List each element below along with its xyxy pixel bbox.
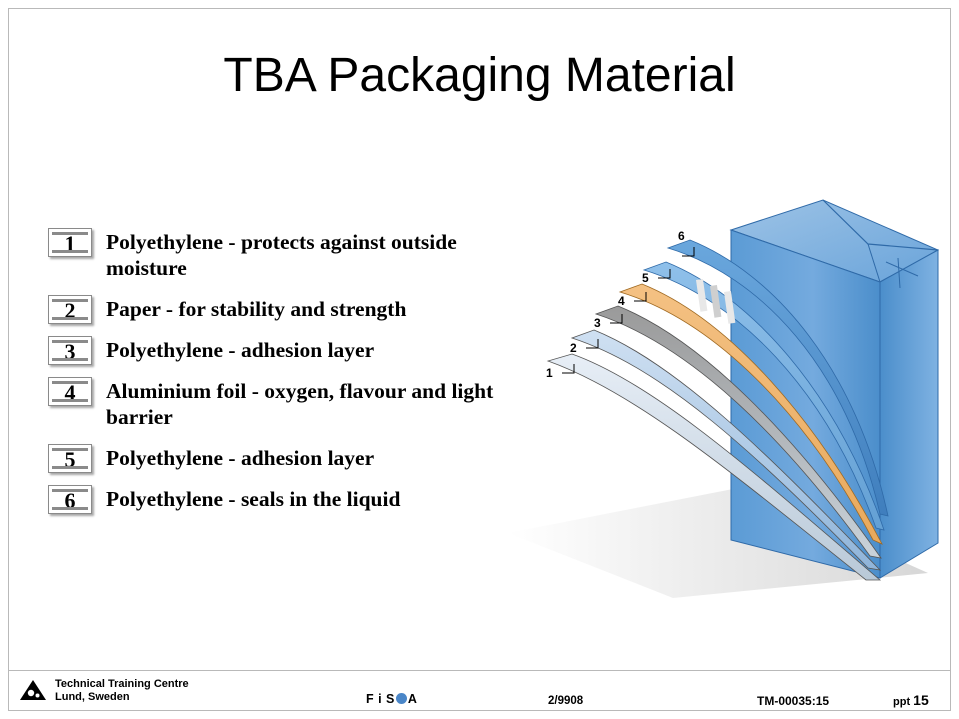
page-title: TBA Packaging Material (0, 48, 959, 103)
footer-page: ppt 15 (893, 692, 929, 708)
company-logo-icon (18, 678, 48, 704)
callout-label-1: 1 (546, 366, 553, 380)
footer-page-number: 15 (913, 692, 929, 708)
layer-description-5: Polyethylene - adhesion layer (106, 444, 374, 471)
layer-number-badge-1: 1 (48, 228, 92, 257)
list-item: 2 Paper - for stability and strength (48, 295, 518, 324)
badge-top-bar (52, 448, 88, 451)
layer-number-badge-6: 6 (48, 485, 92, 514)
badge-bottom-bar (52, 358, 88, 361)
list-item: 5 Polyethylene - adhesion layer (48, 444, 518, 473)
carton-layers-diagram: 1 2 3 4 5 6 (488, 188, 948, 618)
badge-top-bar (52, 232, 88, 235)
footer-document-id: TM-00035:15 (757, 694, 829, 708)
brand-dot-icon (396, 693, 407, 704)
layer-description-2: Paper - for stability and strength (106, 295, 406, 322)
layer-number-badge-3: 3 (48, 336, 92, 365)
badge-bottom-bar (52, 507, 88, 510)
list-item: 4 Aluminium foil - oxygen, flavour and l… (48, 377, 518, 430)
badge-bottom-bar (52, 466, 88, 469)
callout-label-2: 2 (570, 341, 577, 355)
badge-top-bar (52, 299, 88, 302)
slide: TBA Packaging Material 1 Polyethylene - … (0, 0, 959, 719)
layer-legend-list: 1 Polyethylene - protects against outsid… (48, 228, 518, 524)
list-item: 6 Polyethylene - seals in the liquid (48, 485, 518, 514)
layer-description-6: Polyethylene - seals in the liquid (106, 485, 400, 512)
footer-brand-suffix: A (408, 692, 418, 706)
footer-date: 2/9908 (548, 695, 583, 707)
badge-bottom-bar (52, 317, 88, 320)
callout-label-4: 4 (618, 294, 625, 308)
badge-top-bar (52, 340, 88, 343)
callout-label-3: 3 (594, 316, 601, 330)
badge-top-bar (52, 381, 88, 384)
footer-ppt-label: ppt (893, 696, 910, 708)
slide-footer: Technical Training Centre Lund, Sweden F… (0, 668, 959, 718)
footer-org-line2: Lund, Sweden (55, 691, 189, 704)
footer-org-line1: Technical Training Centre (55, 678, 189, 691)
layer-description-3: Polyethylene - adhesion layer (106, 336, 374, 363)
footer-organisation: Technical Training Centre Lund, Sweden (55, 678, 189, 704)
layer-number-badge-5: 5 (48, 444, 92, 473)
badge-bottom-bar (52, 399, 88, 402)
footer-divider (9, 670, 950, 671)
layer-description-1: Polyethylene - protects against outside … (106, 228, 506, 281)
layer-description-4: Aluminium foil - oxygen, flavour and lig… (106, 377, 506, 430)
list-item: 3 Polyethylene - adhesion layer (48, 336, 518, 365)
callout-label-5: 5 (642, 271, 649, 285)
badge-bottom-bar (52, 250, 88, 253)
badge-top-bar (52, 489, 88, 492)
layer-number-badge-4: 4 (48, 377, 92, 406)
list-item: 1 Polyethylene - protects against outsid… (48, 228, 518, 281)
footer-brand: F i SA (366, 692, 417, 706)
layer-number-badge-2: 2 (48, 295, 92, 324)
callout-label-6: 6 (678, 229, 685, 243)
footer-brand-prefix: F i S (366, 692, 395, 706)
